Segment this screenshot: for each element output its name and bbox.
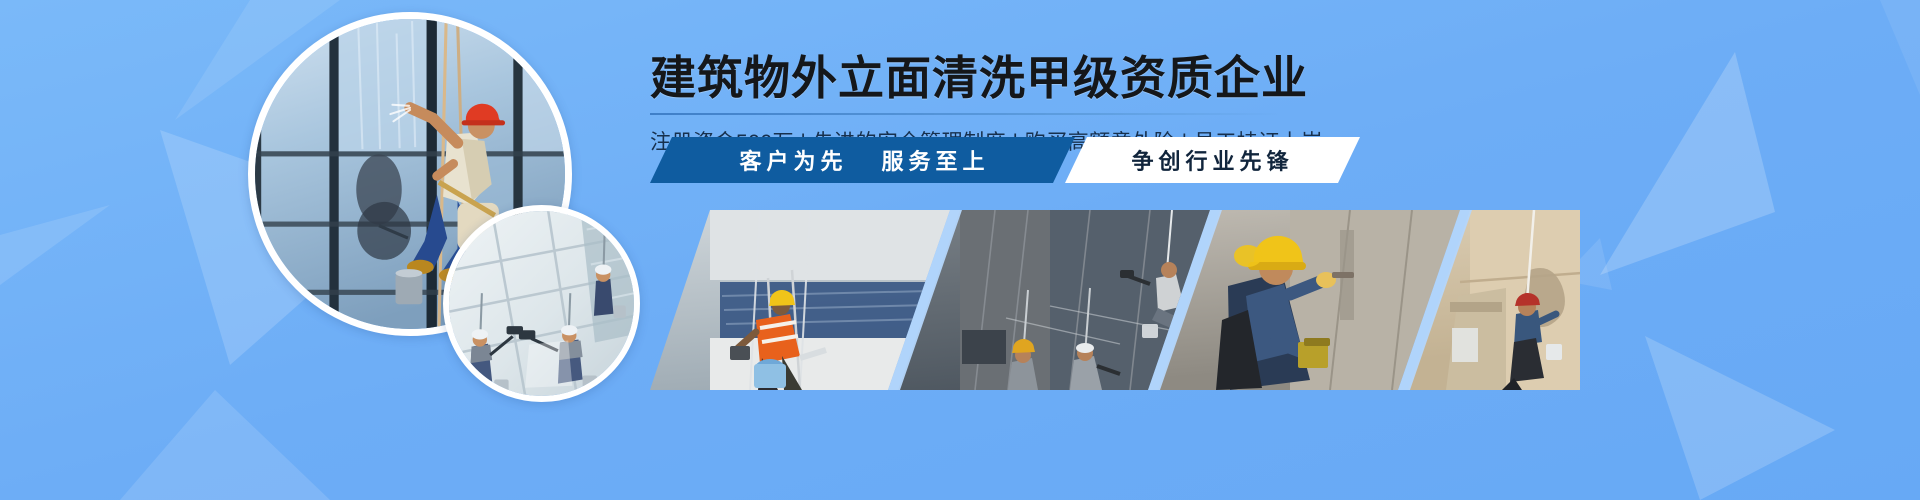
- page-title: 建筑物外立面清洗甲级资质企业: [650, 50, 1550, 106]
- circle-photo-small: [443, 205, 640, 402]
- slogan-secondary-text: 争创行业先锋: [1131, 144, 1293, 176]
- photo-strip-panels: [650, 210, 1580, 390]
- promo-banner: 建筑物外立面清洗甲级资质企业 注册资金500万 | 先进的安全管理制度 | 购买…: [0, 0, 1920, 500]
- title-underline: [650, 113, 1286, 115]
- slogan-secondary: 争创行业先锋: [1065, 137, 1360, 183]
- slogan-left-text: 客户为先: [739, 149, 847, 174]
- facade-cleaning-team-illustration: [449, 211, 634, 396]
- photo-strip: [650, 210, 1580, 390]
- slogan-ribbon: 客户为先服务至上 争创行业先锋: [650, 137, 1360, 183]
- slogan-right-text: 服务至上: [882, 149, 990, 174]
- slogan-primary-text: 客户为先服务至上: [735, 144, 989, 176]
- slogan-primary: 客户为先服务至上: [650, 137, 1075, 183]
